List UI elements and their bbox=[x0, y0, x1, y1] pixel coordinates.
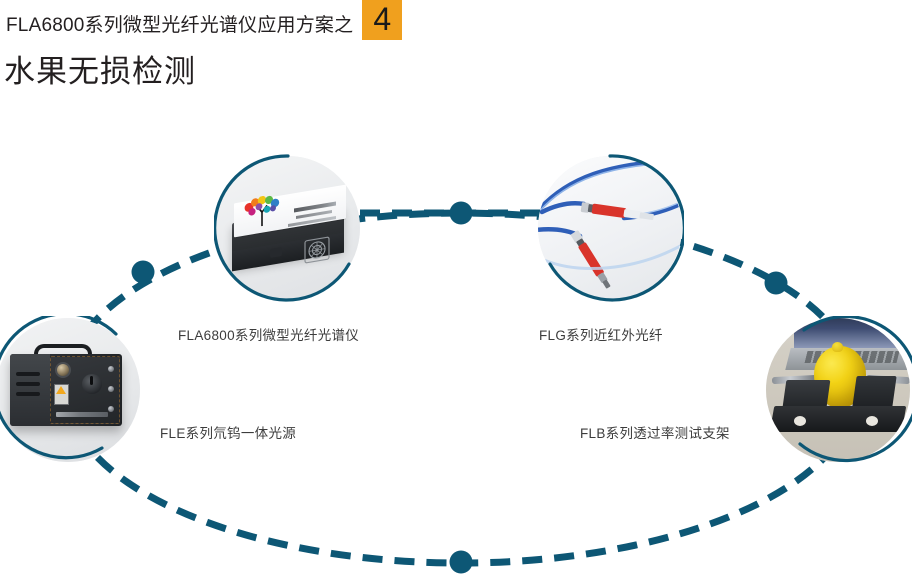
light-source-photo bbox=[0, 318, 140, 462]
node-fiber-optic[interactable] bbox=[536, 154, 684, 302]
caption-light-source: FLE系列氘钨一体光源 bbox=[160, 425, 296, 443]
right-connector-dot bbox=[765, 272, 788, 295]
caption-spectrometer: FLA6800系列微型光纤光谱仪 bbox=[178, 327, 359, 345]
fiber-cable-illustration bbox=[538, 156, 682, 300]
fruit-holder-photo bbox=[766, 318, 910, 462]
left-connector-dot bbox=[132, 261, 155, 284]
diagram-stage: FLA6800系列微型光纤光谱仪 FLG系列近红外光纤 FLE系列氘钨一体光源 … bbox=[0, 0, 920, 575]
node-test-holder[interactable] bbox=[764, 316, 912, 464]
orbit-path bbox=[65, 213, 857, 563]
caption-fiber-optic: FLG系列近红外光纤 bbox=[539, 327, 663, 345]
fan-grill-icon bbox=[304, 236, 330, 264]
fiber-optic-photo bbox=[538, 156, 682, 300]
orbit-dashed-ellipse bbox=[0, 0, 920, 575]
pressure-gauge-icon bbox=[55, 362, 71, 378]
bottom-connector-dot bbox=[450, 551, 473, 574]
caption-test-holder: FLB系列透过率测试支架 bbox=[580, 425, 730, 443]
top-connector-dot bbox=[450, 202, 473, 225]
node-spectrometer[interactable] bbox=[214, 154, 362, 302]
spectrometer-photo bbox=[216, 156, 360, 300]
laptop-icon bbox=[794, 318, 904, 350]
node-light-source[interactable] bbox=[0, 316, 142, 464]
